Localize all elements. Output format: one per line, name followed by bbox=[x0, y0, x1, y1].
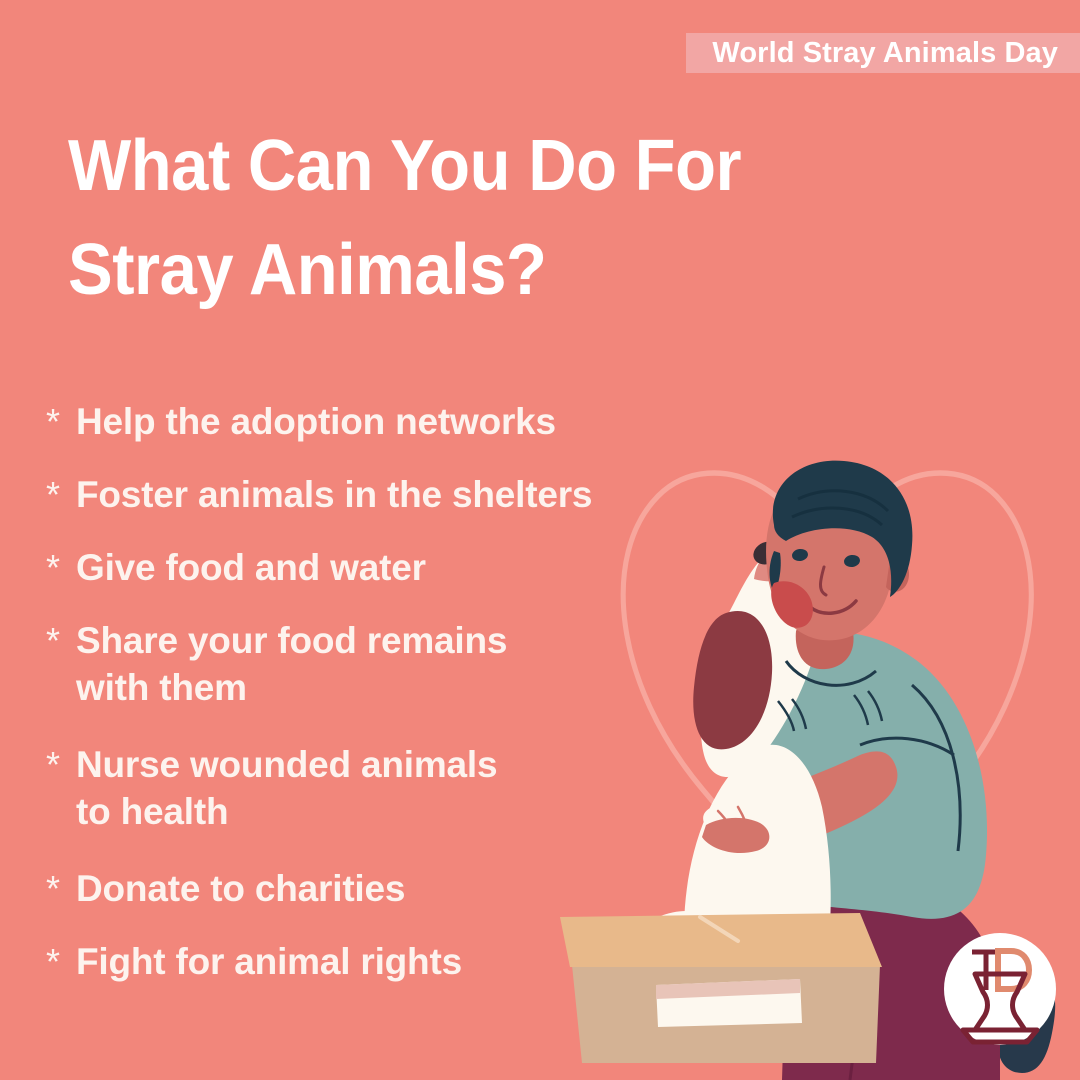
list-item-text: Help the adoption networks bbox=[76, 398, 556, 445]
list-item-text: Nurse wounded animals to health bbox=[76, 741, 497, 835]
list-item-line: to health bbox=[76, 788, 497, 835]
list-item-text: Give food and water bbox=[76, 544, 426, 591]
page-title-line-2: Stray Animals? bbox=[68, 218, 812, 322]
list-item-line: with them bbox=[76, 664, 507, 711]
bullet-star-icon: * bbox=[46, 471, 76, 518]
bullet-star-icon: * bbox=[46, 938, 76, 985]
poster-canvas: World Stray Animals Day What Can You Do … bbox=[0, 0, 1080, 1080]
bullet-star-icon: * bbox=[46, 741, 76, 788]
list-item-line: Nurse wounded animals bbox=[76, 741, 497, 788]
bullet-star-icon: * bbox=[46, 544, 76, 591]
brand-logo[interactable] bbox=[941, 930, 1059, 1048]
list-item-line: Fight for animal rights bbox=[76, 938, 462, 985]
list-item-text: Foster animals in the shelters bbox=[76, 471, 592, 518]
list-item: * Help the adoption networks bbox=[46, 398, 666, 445]
list-item-text: Share your food remains with them bbox=[76, 617, 507, 711]
campaign-badge: World Stray Animals Day bbox=[686, 33, 1080, 73]
list-item-line: Share your food remains bbox=[76, 617, 507, 664]
bullet-star-icon: * bbox=[46, 865, 76, 912]
bullet-star-icon: * bbox=[46, 398, 76, 445]
page-title: What Can You Do For Stray Animals? bbox=[68, 114, 868, 322]
campaign-badge-label: World Stray Animals Day bbox=[712, 39, 1058, 68]
page-title-line-1: What Can You Do For bbox=[68, 114, 812, 218]
bullet-star-icon: * bbox=[46, 617, 76, 664]
list-item-text: Fight for animal rights bbox=[76, 938, 462, 985]
list-item-text: Donate to charities bbox=[76, 865, 405, 912]
list-item-line: Give food and water bbox=[76, 544, 426, 591]
list-item-line: Donate to charities bbox=[76, 865, 405, 912]
list-item-line: Foster animals in the shelters bbox=[76, 471, 592, 518]
box-flap-shape bbox=[560, 913, 882, 967]
list-item-line: Help the adoption networks bbox=[76, 398, 556, 445]
